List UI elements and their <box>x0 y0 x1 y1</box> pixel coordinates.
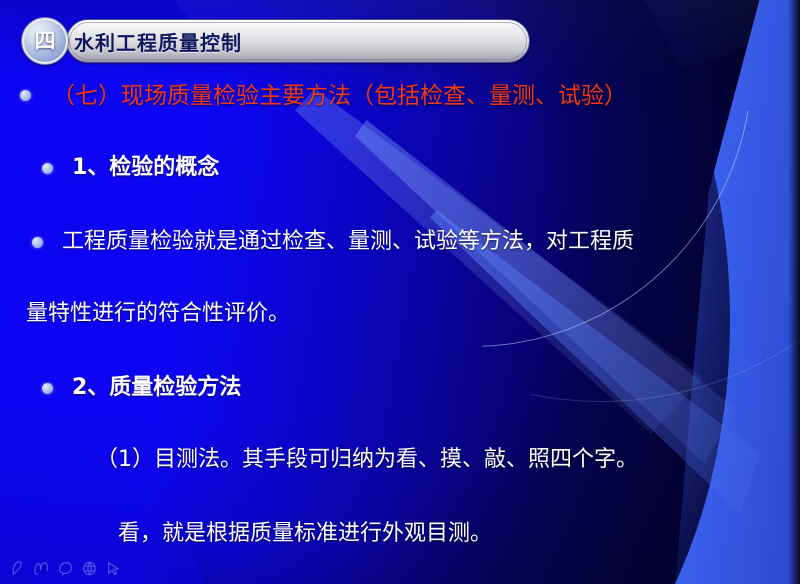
content-line-1: 1、检验的概念 <box>72 150 800 186</box>
bullet-icon <box>32 237 43 248</box>
bullet-icon <box>42 163 53 174</box>
content-line-6-text: 看，就是根据质量标准进行外观目测。 <box>118 521 492 546</box>
globe-doodle-icon <box>80 559 99 578</box>
pen-doodle-icon <box>8 559 27 578</box>
cursor-doodle-icon <box>104 559 123 578</box>
flag-doodle-icon <box>56 559 75 578</box>
content-heading-text: （七）现场质量检验主要方法（包括检查、量测、试验） <box>52 83 627 109</box>
slide-content: （七）现场质量检验主要方法（包括检查、量测、试验） 1、检验的概念 工程质量检验… <box>0 78 800 474</box>
content-line-3-text: 量特性进行的符合性评价。 <box>26 301 290 326</box>
footer-decoration-icons <box>8 559 123 578</box>
content-line-5: （1）目测法。其手段可归纳为看、摸、敲、照四个字。 <box>96 442 800 478</box>
content-line-1-text: 1、检验的概念 <box>72 155 219 180</box>
bullet-icon <box>20 90 31 101</box>
bullet-icon <box>42 383 53 394</box>
content-line-4: 2、质量检验方法 <box>72 370 800 406</box>
section-number-badge: 四 <box>22 18 68 64</box>
content-heading: （七）现场质量检验主要方法（包括检查、量测、试验） <box>52 78 800 114</box>
page-title: 水利工程质量控制 <box>74 27 242 56</box>
slide-header: 水利工程质量控制 四 <box>22 19 530 63</box>
section-number-label: 四 <box>35 31 56 52</box>
wave-doodle-icon <box>32 559 51 578</box>
content-line-4-text: 2、质量检验方法 <box>72 375 241 400</box>
content-line-2: 工程质量检验就是通过检查、量测、试验等方法，对工程质 <box>62 224 800 260</box>
content-line-5-text: （1）目测法。其手段可归纳为看、摸、敲、照四个字。 <box>96 447 638 472</box>
content-line-6: 看，就是根据质量标准进行外观目测。 <box>118 516 800 552</box>
presentation-slide: 水利工程质量控制 四 （七）现场质量检验主要方法（包括检查、量测、试验） 1、检… <box>0 0 800 584</box>
content-line-3: 量特性进行的符合性评价。 <box>26 296 800 332</box>
content-line-2-text: 工程质量检验就是通过检查、量测、试验等方法，对工程质 <box>62 229 634 254</box>
